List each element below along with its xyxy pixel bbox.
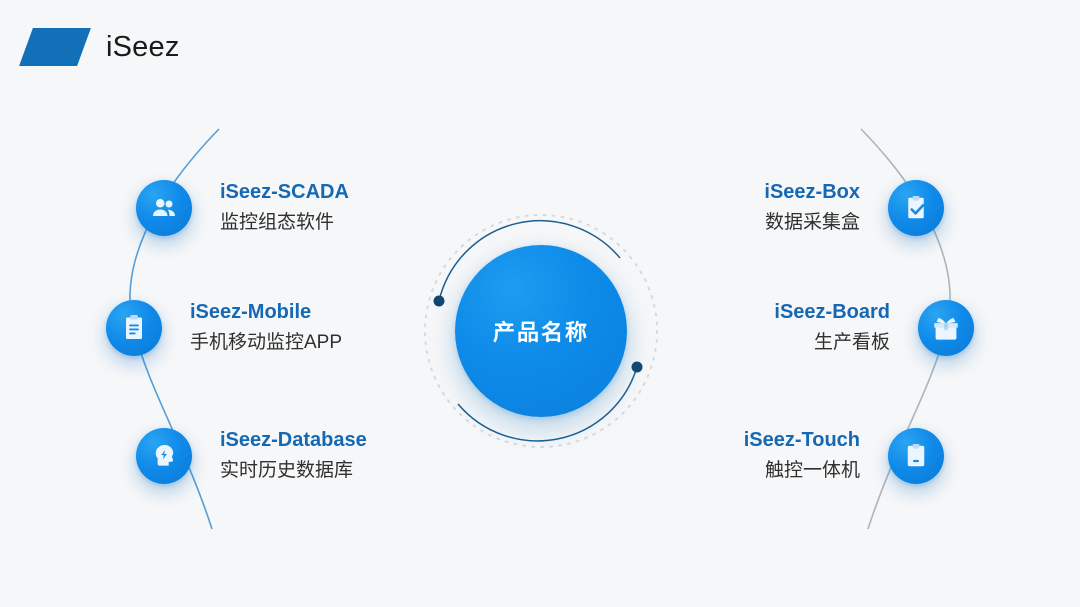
product-subtitle: 监控组态软件	[220, 210, 334, 236]
users-icon	[136, 180, 192, 236]
product-title: iSeez-Mobile	[190, 300, 311, 325]
product-node-box[interactable]: iSeez-Box 数据采集盒	[764, 180, 944, 236]
node-labels: iSeez-Board 生产看板	[774, 300, 890, 356]
product-subtitle: 生产看板	[814, 330, 890, 356]
product-title: iSeez-SCADA	[220, 180, 349, 205]
node-labels: iSeez-Touch 触控一体机	[744, 428, 860, 484]
diagram-stage: 产品名称 iSeez-SCADA 监控组态软件	[0, 0, 1080, 607]
center-hub[interactable]: 产品名称	[455, 245, 627, 417]
open-box-icon	[918, 300, 974, 356]
product-node-database[interactable]: iSeez-Database 实时历史数据库	[136, 428, 367, 484]
node-labels: iSeez-Box 数据采集盒	[764, 180, 860, 236]
product-title: iSeez-Touch	[744, 428, 860, 453]
clipboard-icon	[106, 300, 162, 356]
hub-arc-dot-lower	[632, 362, 643, 373]
product-node-scada[interactable]: iSeez-SCADA 监控组态软件	[136, 180, 349, 236]
product-title: iSeez-Board	[774, 300, 890, 325]
node-labels: iSeez-Mobile 手机移动监控APP	[190, 300, 342, 356]
clipboard-check-icon	[888, 180, 944, 236]
product-title: iSeez-Database	[220, 428, 367, 453]
product-node-mobile[interactable]: iSeez-Mobile 手机移动监控APP	[106, 300, 342, 356]
product-node-board[interactable]: iSeez-Board 生产看板	[774, 300, 974, 356]
node-labels: iSeez-SCADA 监控组态软件	[220, 180, 349, 236]
node-labels: iSeez-Database 实时历史数据库	[220, 428, 367, 484]
hub-arc-dot-upper	[434, 296, 445, 307]
product-subtitle: 实时历史数据库	[220, 458, 353, 484]
product-subtitle: 手机移动监控APP	[190, 330, 342, 356]
product-subtitle: 触控一体机	[765, 458, 860, 484]
touch-device-icon	[888, 428, 944, 484]
head-bolt-icon	[136, 428, 192, 484]
hub-label: 产品名称	[493, 315, 589, 347]
product-subtitle: 数据采集盒	[765, 210, 860, 236]
product-title: iSeez-Box	[764, 180, 860, 205]
product-node-touch[interactable]: iSeez-Touch 触控一体机	[744, 428, 944, 484]
